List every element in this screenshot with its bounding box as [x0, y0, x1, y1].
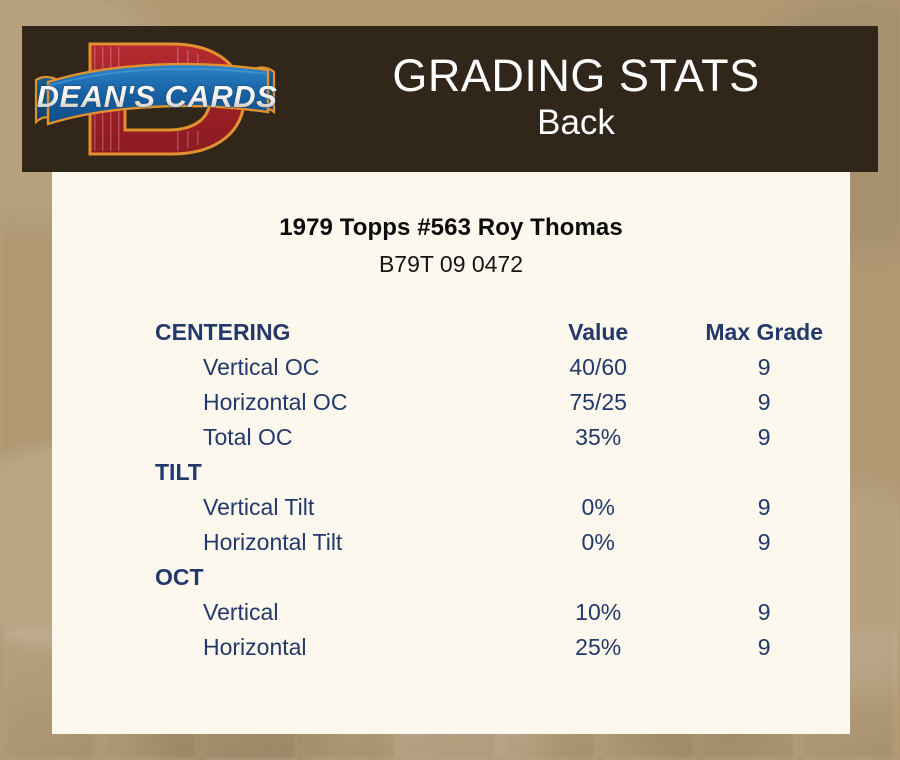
column-header-max-grade: Max Grade [678, 315, 850, 350]
row-label: Total OC [52, 420, 518, 455]
section-spacer [518, 560, 678, 595]
card-serial-number: B79T 09 0472 [52, 251, 850, 278]
row-max-grade: 9 [678, 525, 850, 560]
section-heading-centering: CENTERING [52, 315, 518, 350]
section-heading-tilt: TILT [52, 455, 518, 490]
row-label: Horizontal Tilt [52, 525, 518, 560]
section-row-oct: OCT [52, 560, 850, 595]
table-row: Vertical 10% 9 [52, 595, 850, 630]
table-row: Horizontal Tilt 0% 9 [52, 525, 850, 560]
section-heading-oct: OCT [52, 560, 518, 595]
row-value: 40/60 [518, 350, 678, 385]
row-value: 25% [518, 630, 678, 665]
row-value: 35% [518, 420, 678, 455]
header-banner: DEAN'S CARDS GRADING STATS Back [22, 26, 878, 172]
table-row: Total OC 35% 9 [52, 420, 850, 455]
row-label: Vertical Tilt [52, 490, 518, 525]
row-label: Horizontal [52, 630, 518, 665]
row-value: 0% [518, 525, 678, 560]
row-label: Vertical OC [52, 350, 518, 385]
row-max-grade: 9 [678, 630, 850, 665]
row-value: 75/25 [518, 385, 678, 420]
table-header-row: CENTERING Value Max Grade [52, 315, 850, 350]
logo-wordmark: DEAN'S CARDS [37, 79, 278, 114]
table-row: Horizontal OC 75/25 9 [52, 385, 850, 420]
table-row: Vertical Tilt 0% 9 [52, 490, 850, 525]
row-label: Horizontal OC [52, 385, 518, 420]
row-max-grade: 9 [678, 350, 850, 385]
table-row: Horizontal 25% 9 [52, 630, 850, 665]
card-title: 1979 Topps #563 Roy Thomas [52, 214, 850, 242]
section-row-tilt: TILT [52, 455, 850, 490]
stats-panel: 1979 Topps #563 Roy Thomas B79T 09 0472 … [52, 172, 850, 734]
grading-stats-table: CENTERING Value Max Grade Vertical OC 40… [52, 315, 850, 665]
page-title: GRADING STATS [288, 50, 864, 102]
section-spacer [678, 455, 850, 490]
column-header-value: Value [518, 315, 678, 350]
row-label: Vertical [52, 595, 518, 630]
page-subtitle: Back [288, 102, 864, 144]
row-value: 0% [518, 490, 678, 525]
row-max-grade: 9 [678, 420, 850, 455]
table-row: Vertical OC 40/60 9 [52, 350, 850, 385]
deans-cards-logo[interactable]: DEAN'S CARDS [22, 26, 288, 172]
section-spacer [518, 455, 678, 490]
row-value: 10% [518, 595, 678, 630]
section-spacer [678, 560, 850, 595]
row-max-grade: 9 [678, 595, 850, 630]
header-title-block: GRADING STATS Back [288, 50, 878, 144]
row-max-grade: 9 [678, 490, 850, 525]
row-max-grade: 9 [678, 385, 850, 420]
